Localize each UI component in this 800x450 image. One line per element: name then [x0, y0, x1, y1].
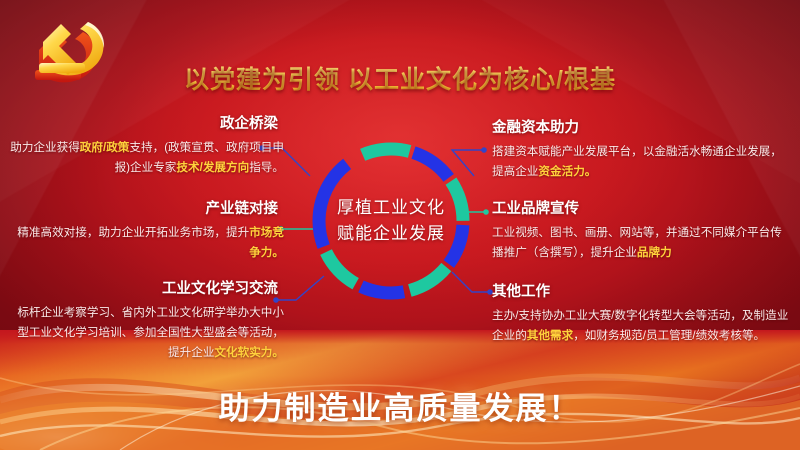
ring-text-line2: 赋能企业发展: [296, 221, 486, 247]
block-body-chain: 精准高效对接，助力企业开拓业务市场，提升市场竞争力。: [6, 223, 284, 263]
ring-text-line1: 厚植工业文化: [296, 195, 486, 221]
block-title-other: 其他工作: [492, 280, 792, 301]
block-body-brand: 工业视频、图书、画册、网站等，并通过不同媒介平台传播推广（含撰写），提升企业品牌…: [492, 223, 792, 263]
block-body-learning: 标杆企业考察学习、省内外工业文化研学举办大中小型工业文化学习培训、参加全国性大型…: [6, 303, 284, 363]
block-title-government: 政企桥梁: [6, 112, 284, 133]
block-body-other: 主办/支持协办工业大赛/数字化转型大会等活动，及制造业企业的其他需求，如财务规范…: [492, 306, 792, 346]
block-finance[interactable]: 金融资本助力 搭建资本赋能产业发展平台，以金融活水畅通企业发展，提高企业资金活力…: [492, 116, 792, 182]
block-brand[interactable]: 工业品牌宣传 工业视频、图书、画册、网站等，并通过不同媒介平台传播推广（含撰写）…: [492, 197, 792, 263]
block-body-finance: 搭建资本赋能产业发展平台，以金融活水畅通企业发展，提高企业资金活力。: [492, 142, 792, 182]
block-body-government: 助力企业获得政府/政策支持，(政策宣贯、政府项目申报)企业专家技术/发展方向指导…: [6, 138, 284, 178]
poster-canvas: 以党建为引领 以工业文化为核心/根基: [0, 0, 800, 450]
block-other[interactable]: 其他工作 主办/支持协办工业大赛/数字化转型大会等活动，及制造业企业的其他需求，…: [492, 280, 792, 346]
ring-center-text: 厚植工业文化 赋能企业发展: [296, 195, 486, 247]
block-title-learning: 工业文化学习交流: [6, 277, 284, 298]
block-title-brand: 工业品牌宣传: [492, 197, 792, 218]
block-chain[interactable]: 产业链对接 精准高效对接，助力企业开拓业务市场，提升市场竞争力。: [6, 197, 284, 263]
block-title-finance: 金融资本助力: [492, 116, 792, 137]
block-government[interactable]: 政企桥梁 助力企业获得政府/政策支持，(政策宣贯、政府项目申报)企业专家技术/发…: [6, 112, 284, 178]
block-learning[interactable]: 工业文化学习交流 标杆企业考察学习、省内外工业文化研学举办大中小型工业文化学习培…: [6, 277, 284, 363]
center-ring: 厚植工业文化 赋能企业发展: [296, 126, 486, 316]
block-title-chain: 产业链对接: [6, 197, 284, 218]
bottom-slogan: 助力制造业高质量发展！: [0, 383, 800, 428]
